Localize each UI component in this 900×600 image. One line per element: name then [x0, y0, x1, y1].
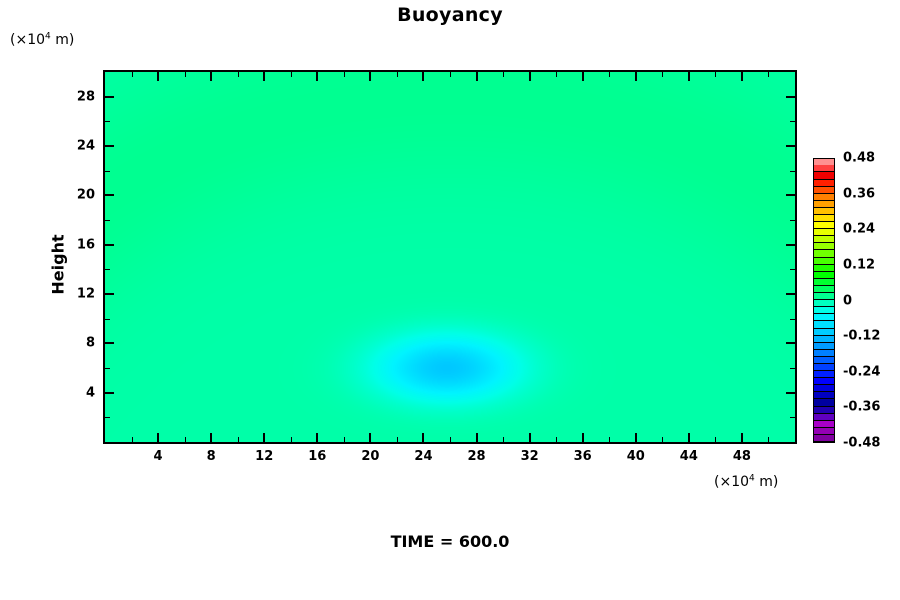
colorbar-band-33: [814, 201, 834, 208]
colorbar-band-20: [814, 293, 834, 300]
colorbar-band-36: [814, 180, 834, 187]
y-tick-major-right-16: [786, 244, 795, 246]
colorbar-band-8: [814, 378, 834, 385]
y-tick-major-right-24: [786, 145, 795, 147]
y-unit-prefix: (×10: [10, 32, 45, 48]
x-tick-label-32: 32: [521, 449, 539, 464]
colorbar-band-24: [814, 265, 834, 272]
x-tick-major-36: [582, 433, 584, 442]
colorbar-band-9: [814, 371, 834, 378]
y-tick-minor: [105, 121, 110, 122]
colorbar-band-16: [814, 321, 834, 328]
x-tick-minor: [662, 437, 663, 442]
x-tick-minor-top: [609, 72, 610, 77]
colorbar-band-11: [814, 357, 834, 364]
y-tick-major-4: [105, 392, 114, 394]
colorbar-band-17: [814, 314, 834, 321]
x-tick-label-16: 16: [308, 449, 326, 464]
x-tick-major-top-8: [210, 72, 212, 81]
y-tick-label-24: 24: [69, 139, 95, 154]
y-tick-major-right-8: [786, 342, 795, 344]
x-tick-major-top-16: [316, 72, 318, 81]
x-tick-major-top-12: [263, 72, 265, 81]
y-tick-minor-right: [790, 319, 795, 320]
time-annotation: TIME = 600.0: [0, 532, 900, 551]
x-tick-label-12: 12: [255, 449, 273, 464]
colorbar-label-0_24: 0.24: [843, 222, 875, 237]
x-tick-minor-top: [185, 72, 186, 77]
colorbar-band-0: [814, 435, 834, 442]
colorbar-label-0_36: 0.36: [843, 186, 875, 201]
y-tick-major-24: [105, 145, 114, 147]
x-tick-major-16: [316, 433, 318, 442]
buoyancy-field-heatmap: [105, 72, 795, 442]
x-tick-minor: [715, 437, 716, 442]
colorbar-band-25: [814, 258, 834, 265]
colorbar-band-7: [814, 385, 834, 392]
x-tick-major-top-4: [157, 72, 159, 81]
x-tick-minor-top: [344, 72, 345, 77]
x-tick-minor: [132, 437, 133, 442]
x-tick-label-4: 4: [154, 449, 163, 464]
colorbar-label-0: 0: [843, 293, 852, 308]
colorbar-label-0_48: 0.48: [843, 151, 875, 166]
colorbar-label-neg0_12: -0.12: [843, 329, 880, 344]
colorbar-band-31: [814, 215, 834, 222]
x-tick-minor: [397, 437, 398, 442]
colorbar-band-3: [814, 414, 834, 421]
x-tick-minor-top: [556, 72, 557, 77]
colorbar-band-29: [814, 229, 834, 236]
x-tick-major-28: [476, 433, 478, 442]
colorbar-band-37: [814, 172, 834, 179]
x-tick-major-top-24: [422, 72, 424, 81]
y-tick-minor-right: [790, 171, 795, 172]
x-tick-minor: [503, 437, 504, 442]
colorbar-band-12: [814, 350, 834, 357]
colorbar-band-15: [814, 329, 834, 336]
x-unit-suffix: m): [755, 474, 779, 490]
y-tick-major-8: [105, 342, 114, 344]
y-tick-label-16: 16: [69, 237, 95, 252]
y-tick-minor-right: [790, 121, 795, 122]
y-tick-minor-right: [790, 269, 795, 270]
x-tick-minor: [450, 437, 451, 442]
x-tick-major-top-48: [741, 72, 743, 81]
x-tick-major-top-40: [635, 72, 637, 81]
x-tick-minor-top: [768, 72, 769, 77]
y-tick-major-12: [105, 293, 114, 295]
x-tick-minor: [238, 437, 239, 442]
colorbar-band-18: [814, 307, 834, 314]
y-tick-minor: [105, 171, 110, 172]
colorbar-band-28: [814, 236, 834, 243]
x-tick-minor: [185, 437, 186, 442]
x-tick-major-48: [741, 433, 743, 442]
x-tick-major-4: [157, 433, 159, 442]
y-tick-major-right-4: [786, 392, 795, 394]
x-tick-major-top-36: [582, 72, 584, 81]
x-tick-major-top-28: [476, 72, 478, 81]
x-tick-minor: [768, 437, 769, 442]
x-tick-major-20: [369, 433, 371, 442]
colorbar-label-neg0_48: -0.48: [843, 436, 880, 451]
y-tick-major-right-12: [786, 293, 795, 295]
x-tick-minor-top: [238, 72, 239, 77]
x-tick-label-40: 40: [627, 449, 645, 464]
colorbar-label-neg0_24: -0.24: [843, 364, 880, 379]
x-tick-major-top-32: [529, 72, 531, 81]
y-tick-major-16: [105, 244, 114, 246]
x-tick-minor: [556, 437, 557, 442]
x-tick-label-36: 36: [574, 449, 592, 464]
x-tick-label-24: 24: [414, 449, 432, 464]
x-tick-minor-top: [450, 72, 451, 77]
colorbar-label-0_12: 0.12: [843, 257, 875, 272]
y-tick-label-12: 12: [69, 287, 95, 302]
colorbar-band-5: [814, 399, 834, 406]
x-tick-major-32: [529, 433, 531, 442]
colorbar-band-38: [814, 165, 834, 172]
x-tick-minor-top: [291, 72, 292, 77]
y-tick-minor-right: [790, 417, 795, 418]
colorbar-band-1: [814, 428, 834, 435]
y-tick-minor: [105, 220, 110, 221]
x-tick-major-24: [422, 433, 424, 442]
page-title: Buoyancy: [0, 4, 900, 26]
x-tick-minor: [344, 437, 345, 442]
colorbar-band-6: [814, 392, 834, 399]
x-tick-major-44: [688, 433, 690, 442]
plot-area: [103, 70, 797, 444]
colorbar-band-26: [814, 250, 834, 257]
colorbar-band-19: [814, 300, 834, 307]
y-tick-minor: [105, 269, 110, 270]
x-tick-major-12: [263, 433, 265, 442]
y-axis-unit-label: (×104 m): [10, 32, 74, 48]
colorbar-band-30: [814, 222, 834, 229]
x-tick-minor: [291, 437, 292, 442]
colorbar-band-4: [814, 407, 834, 414]
x-tick-label-44: 44: [680, 449, 698, 464]
x-tick-minor-top: [715, 72, 716, 77]
x-tick-minor: [609, 437, 610, 442]
y-tick-label-20: 20: [69, 188, 95, 203]
y-tick-major-28: [105, 96, 114, 98]
x-tick-minor-top: [397, 72, 398, 77]
y-tick-minor-right: [790, 368, 795, 369]
colorbar-band-34: [814, 194, 834, 201]
x-unit-prefix: (×10: [714, 474, 749, 490]
y-tick-minor: [105, 368, 110, 369]
x-tick-minor-top: [662, 72, 663, 77]
colorbar-band-2: [814, 421, 834, 428]
colorbar-band-22: [814, 279, 834, 286]
colorbar-band-35: [814, 187, 834, 194]
x-tick-label-48: 48: [733, 449, 751, 464]
y-tick-major-right-28: [786, 96, 795, 98]
x-axis-unit-label: (×104 m): [714, 474, 778, 490]
x-tick-major-top-20: [369, 72, 371, 81]
colorbar-band-14: [814, 336, 834, 343]
colorbar-band-13: [814, 343, 834, 350]
x-tick-label-28: 28: [467, 449, 485, 464]
y-tick-minor: [105, 417, 110, 418]
y-tick-major-20: [105, 194, 114, 196]
y-tick-minor: [105, 319, 110, 320]
colorbar-band-23: [814, 272, 834, 279]
colorbar-band-10: [814, 364, 834, 371]
x-tick-major-top-44: [688, 72, 690, 81]
x-tick-label-8: 8: [207, 449, 216, 464]
x-tick-major-8: [210, 433, 212, 442]
y-tick-minor-right: [790, 220, 795, 221]
colorbar-band-21: [814, 286, 834, 293]
x-tick-minor-top: [503, 72, 504, 77]
y-axis-title: Height: [49, 234, 68, 294]
x-tick-minor-top: [132, 72, 133, 77]
x-tick-major-40: [635, 433, 637, 442]
y-tick-label-8: 8: [69, 336, 95, 351]
colorbar-band-32: [814, 208, 834, 215]
y-tick-label-28: 28: [69, 89, 95, 104]
y-unit-suffix: m): [51, 32, 75, 48]
colorbar-band-27: [814, 243, 834, 250]
y-tick-major-right-20: [786, 194, 795, 196]
colorbar-label-neg0_36: -0.36: [843, 400, 880, 415]
colorbar: [813, 158, 835, 443]
y-tick-label-4: 4: [69, 385, 95, 400]
x-tick-label-20: 20: [361, 449, 379, 464]
